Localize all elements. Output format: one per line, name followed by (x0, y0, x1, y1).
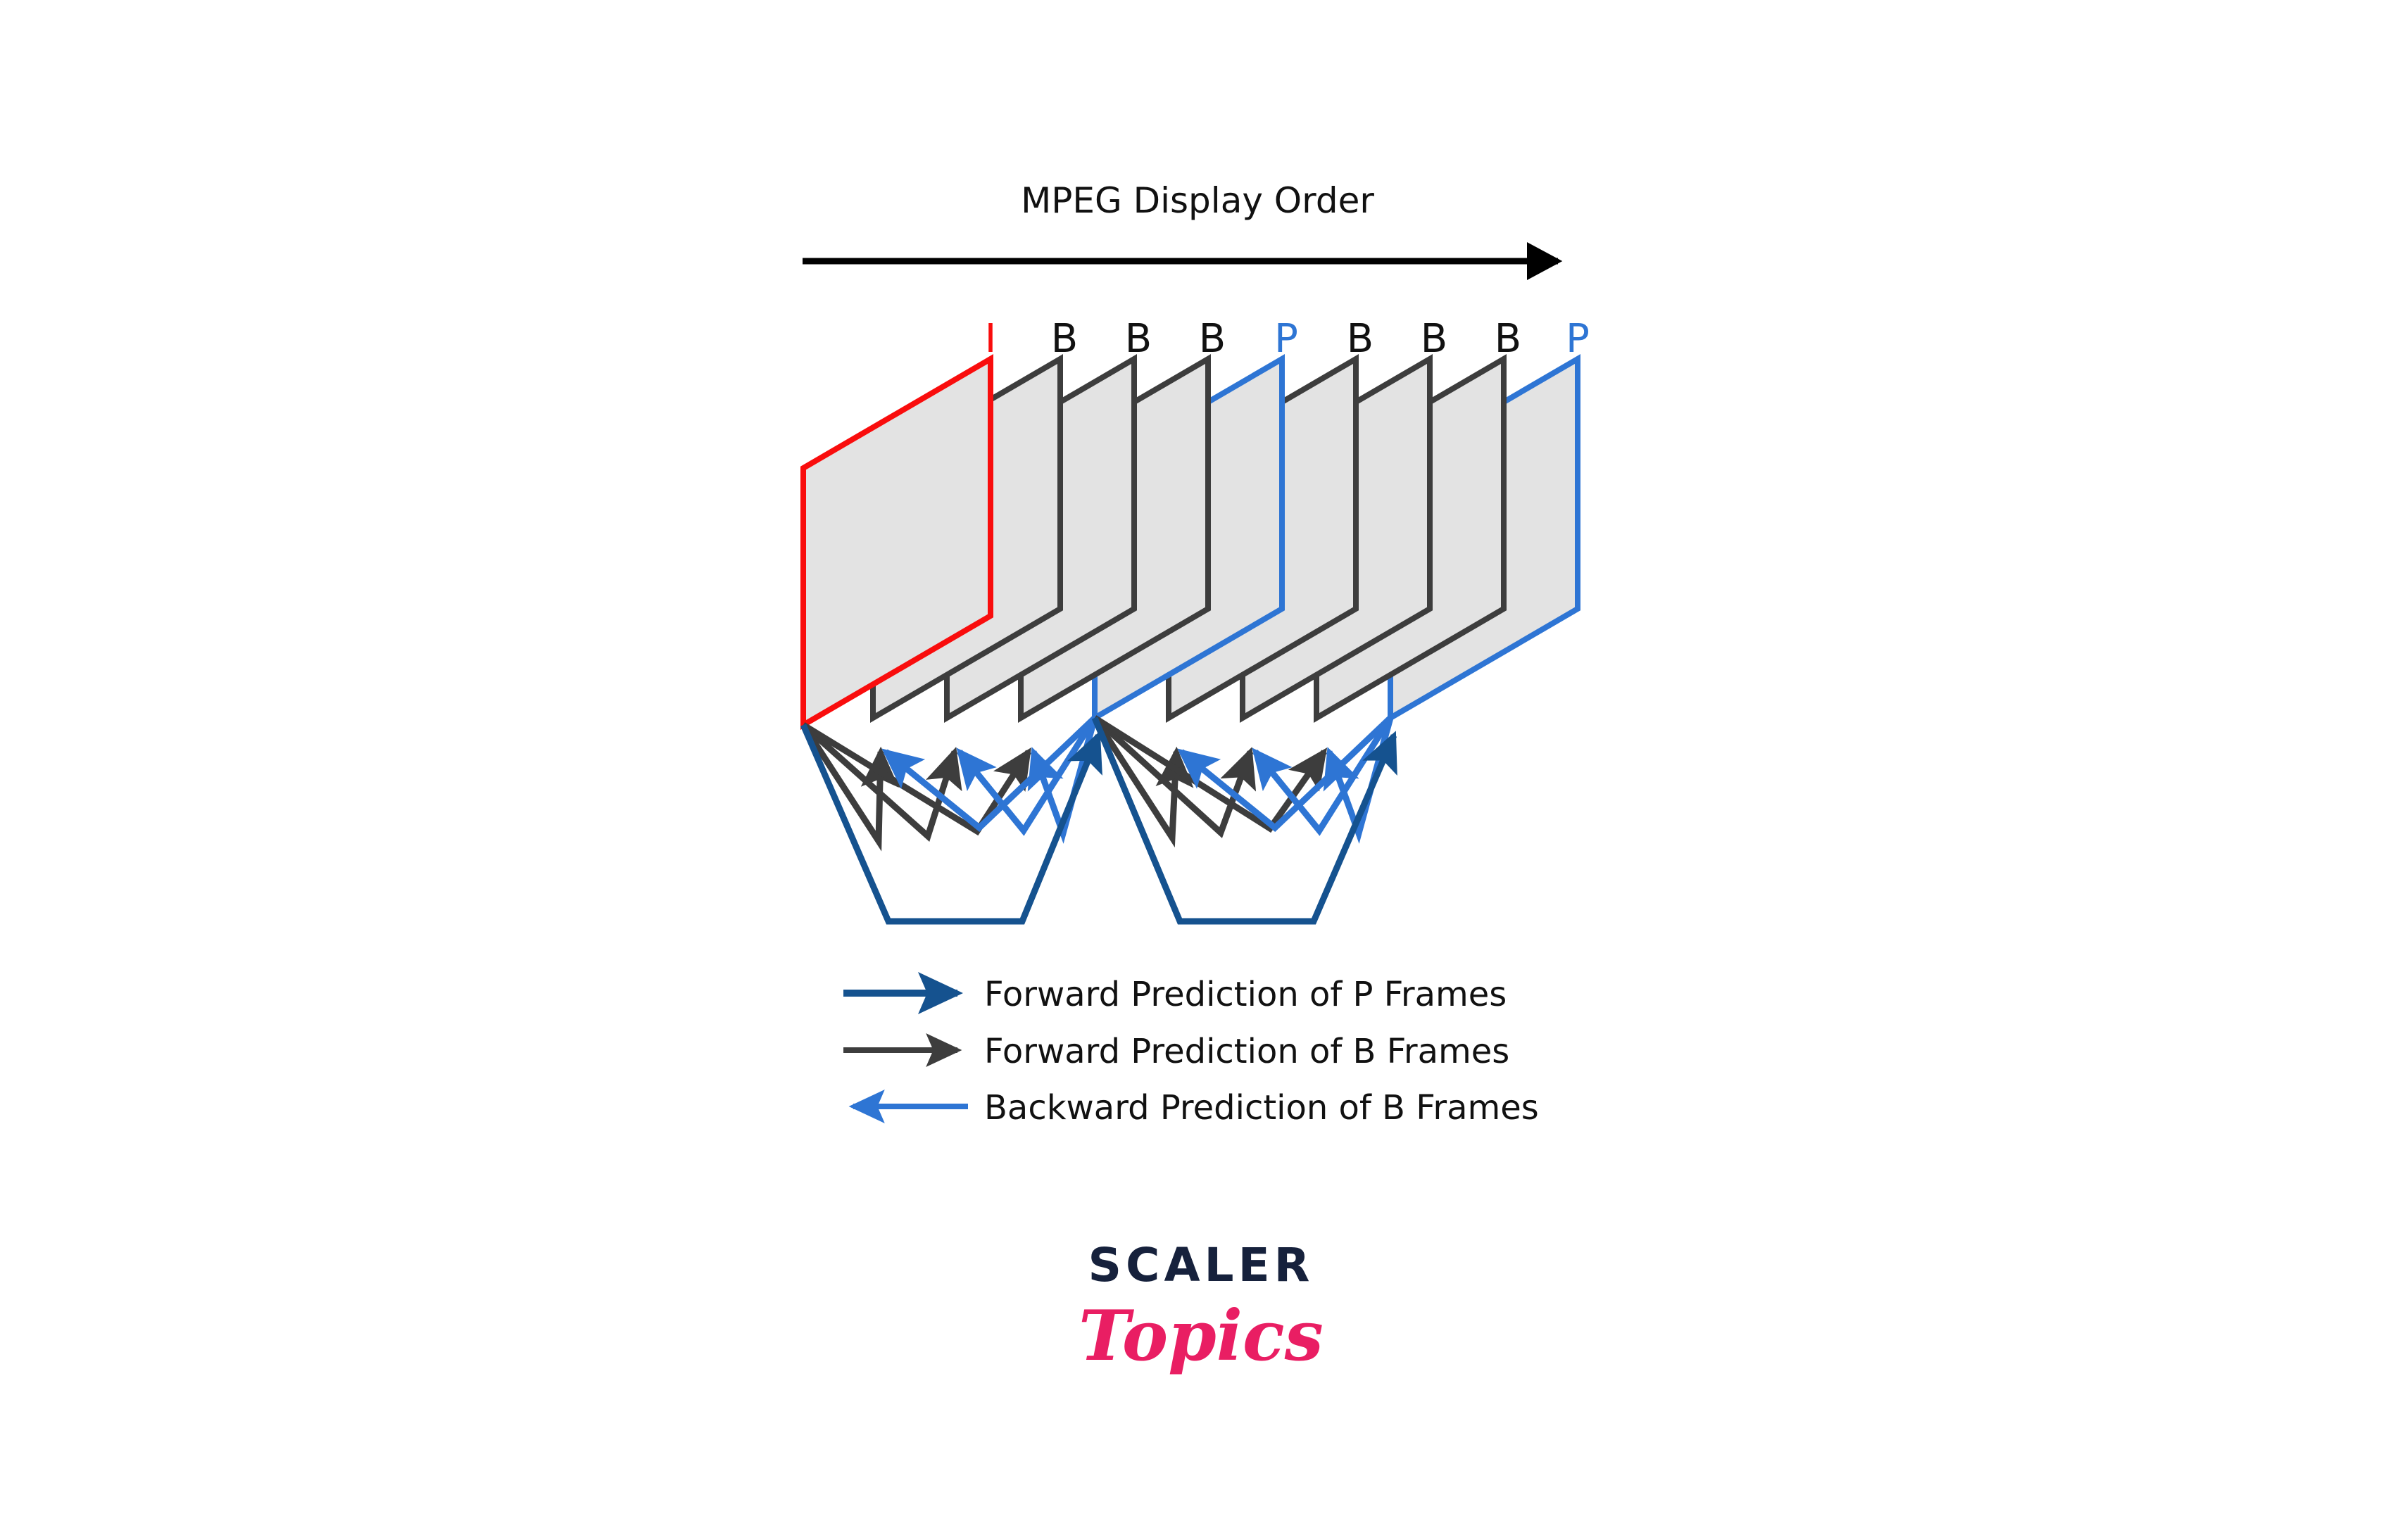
frame-label-0: I (985, 316, 997, 362)
page-title: MPEG Display Order (1021, 180, 1374, 221)
legend-label-2: Backward Prediction of B Frames (984, 1088, 1539, 1128)
legend: Forward Prediction of P Frames Forward P… (843, 975, 1539, 1128)
legend-label-1: Forward Prediction of B Frames (984, 1032, 1509, 1071)
forward-b-arrows-gop1 (803, 725, 1029, 841)
frame-stack (803, 359, 1578, 725)
legend-row-2[interactable]: Backward Prediction of B Frames (853, 1088, 1539, 1128)
diagram-canvas: MPEG Display Order I B B B P B B B P (0, 0, 2395, 1540)
frame-label-1: B (1051, 316, 1078, 362)
frame-label-5: B (1347, 316, 1373, 362)
frame-label-4: P (1274, 316, 1298, 362)
frame-label-row: I B B B P B B B P (985, 316, 1590, 362)
frame-label-6: B (1421, 316, 1447, 362)
legend-row-1[interactable]: Forward Prediction of B Frames (843, 1032, 1509, 1071)
frame-label-2: B (1125, 316, 1152, 362)
legend-label-0: Forward Prediction of P Frames (984, 975, 1507, 1014)
logo-secondary-text: Topics (1079, 1296, 1324, 1377)
mpeg-display-order-diagram: MPEG Display Order I B B B P B B B P (0, 0, 2395, 1540)
legend-row-0[interactable]: Forward Prediction of P Frames (843, 975, 1507, 1014)
logo-primary-text: SCALER (1088, 1238, 1314, 1292)
frame-label-8: P (1566, 316, 1590, 362)
scaler-topics-logo[interactable]: SCALER Topics (1079, 1238, 1324, 1377)
frame-label-3: B (1199, 316, 1226, 362)
frame-label-7: B (1495, 316, 1521, 362)
